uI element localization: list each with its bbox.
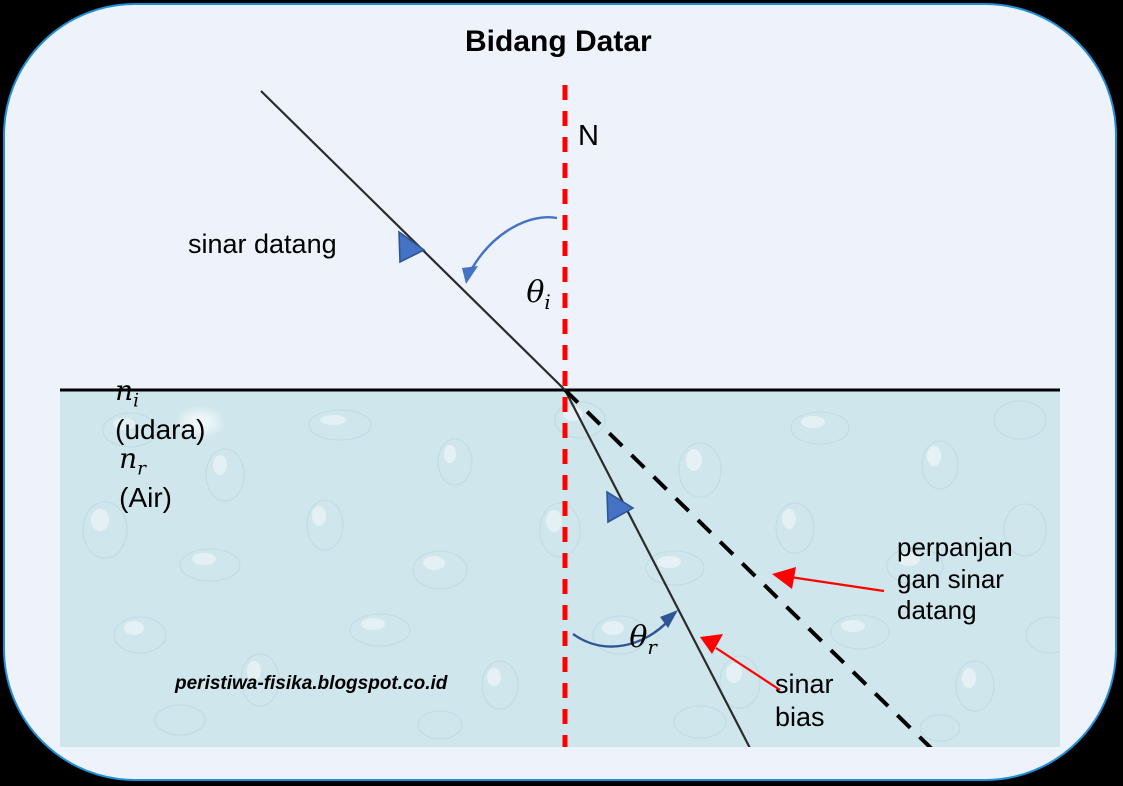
normal-line-label: N [578,119,599,154]
lower-medium-name: (Air) [119,482,172,513]
incident-ray-label: sinar datang [188,228,337,261]
incident-ray-arrowhead [399,232,424,262]
extension-callout-arrowhead [772,567,796,589]
angle-of-refraction-label: θr [596,583,657,696]
lower-medium-subscript: r [137,459,146,480]
theta-i-subscript: i [544,291,550,314]
upper-medium-symbol: n [115,374,133,407]
angle-of-incidence-arc-arrowhead [462,266,478,284]
refracted-ray-line [565,390,752,752]
refracted-ray-label: sinar bias [775,668,834,734]
lower-medium-symbol: n [119,442,137,475]
lower-medium-label: nr (Air) [88,408,172,550]
theta-i-symbol: θ [526,275,544,310]
angle-of-incidence-label: θi [493,238,551,351]
theta-r-subscript: r [647,636,656,659]
theta-r-symbol: θ [629,620,647,655]
page-title: Bidang Datar [465,24,652,61]
extension-callout-arrow-line [790,577,884,591]
watermark-text: peristiwa-fisika.blogspot.co.id [175,672,447,695]
diagram-canvas: Bidang Datar N sinar datang ni (udara) n… [0,0,1123,786]
extension-ray-label: perpanjan gan sinar datang [897,532,1013,627]
refracted-callout-arrow-line [716,648,780,690]
incident-ray-extension-line [565,390,935,752]
